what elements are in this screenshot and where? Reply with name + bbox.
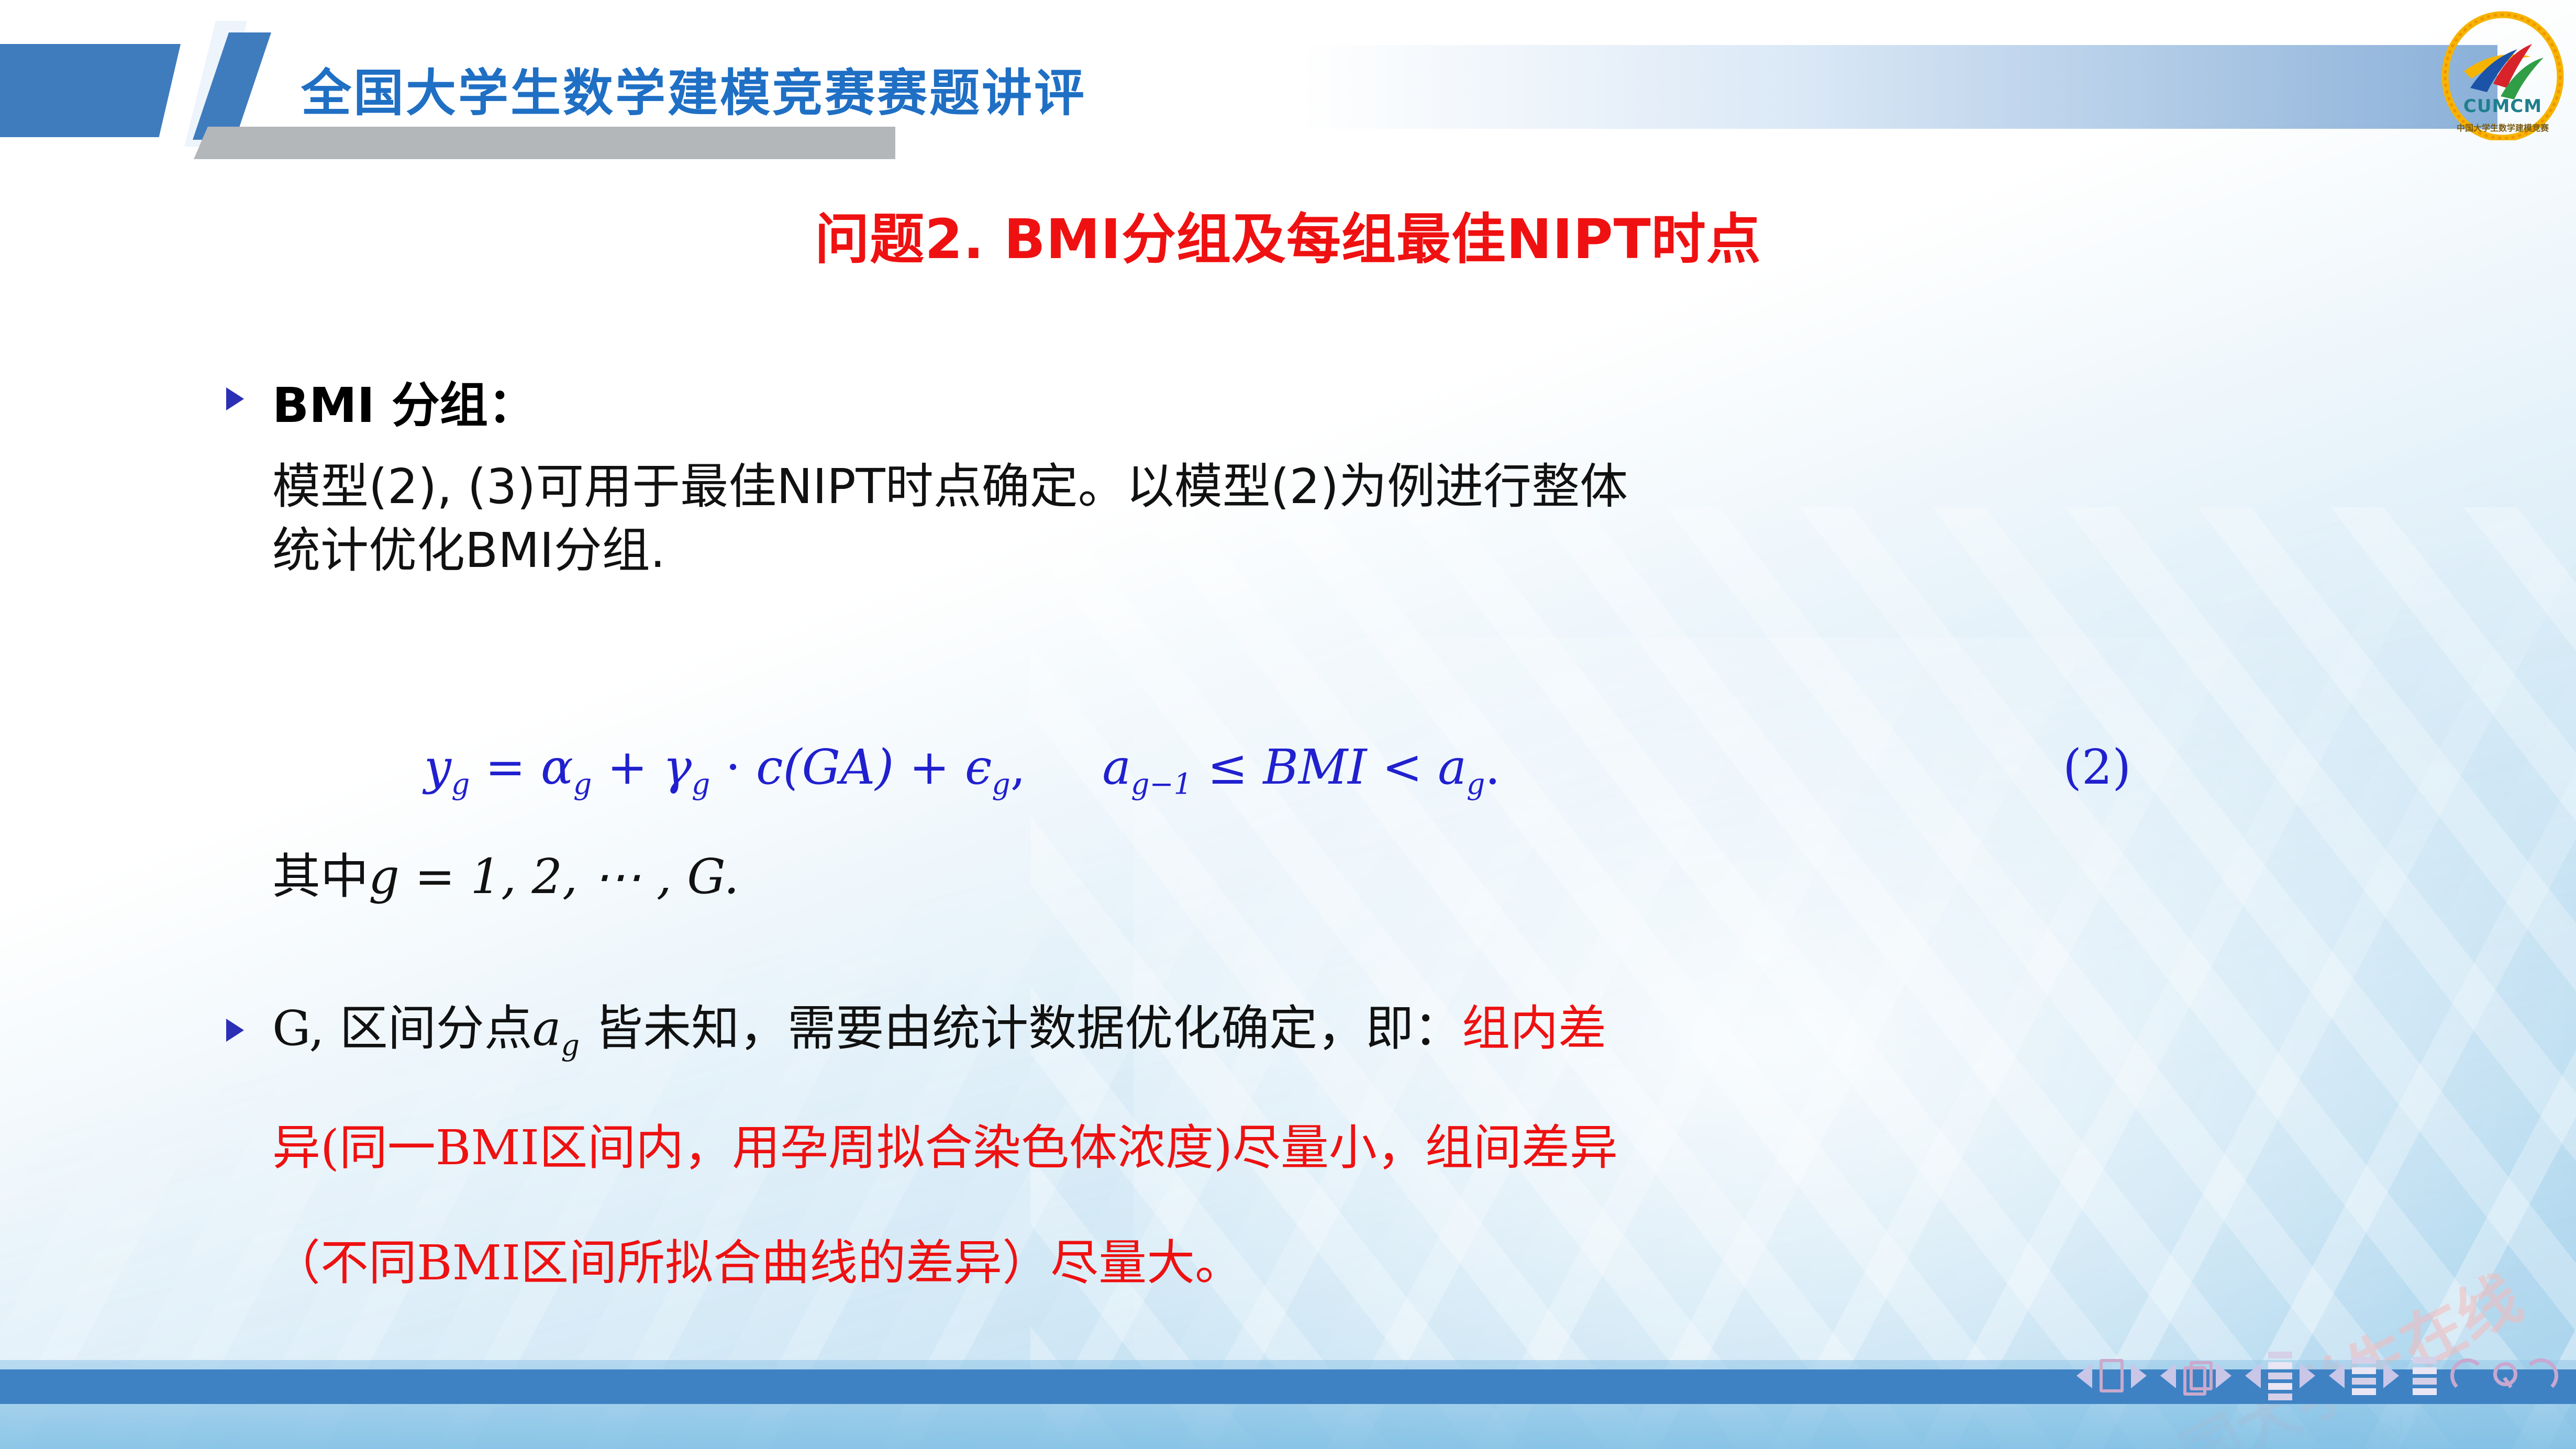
where-body: g = 1, 2, ⋯ , G. [369, 849, 739, 905]
formula-bound-lower: ag−1 [1102, 739, 1192, 795]
bullet1-heading: BMI 分组： [272, 366, 536, 436]
section-icon[interactable] [2352, 1357, 2376, 1395]
nav-group-subsection[interactable] [2245, 1352, 2315, 1400]
prev-frame-icon[interactable] [2077, 1363, 2092, 1388]
header-title: 全国大学生数学建模竞赛赛题讲评 [301, 52, 1086, 125]
formula-period: . [1485, 739, 1500, 795]
bullet2-line1-prefix: G, 区间分点 [272, 1000, 532, 1056]
svg-text:中国大学生数学建模竞赛: 中国大学生数学建模竞赛 [2457, 123, 2549, 133]
nav-group-document[interactable] [2413, 1357, 2437, 1395]
nav-group-history[interactable] [2450, 1358, 2558, 1393]
bullet2-var-a: ag [532, 1000, 580, 1056]
formula-equation-2: yg = αg + γg · c(GA) + ϵg, ag−1 ≤ BMI < … [424, 739, 1501, 801]
nav-group-frame[interactable] [2077, 1359, 2147, 1392]
subsection-icon[interactable] [2268, 1352, 2292, 1400]
bullet2-line1-red: 组内差 [1462, 1000, 1606, 1056]
formula-comma: , [1011, 739, 1026, 795]
header-gradient-bar [1298, 45, 2497, 129]
next-subsection-icon[interactable] [2300, 1363, 2315, 1388]
prev-section-icon[interactable] [2329, 1363, 2345, 1388]
bullet2-line2: 异(同一BMI区间内，用孕周拟合染色体浓度)尽量小，组间差异 [272, 1109, 1618, 1178]
formula-number: (2) [2063, 739, 2131, 795]
formula-c-ga: c(GA) [756, 739, 894, 795]
forward-icon[interactable] [2524, 1358, 2558, 1393]
frame-icon[interactable] [2100, 1359, 2124, 1392]
slides-icon[interactable] [2183, 1361, 2208, 1390]
formula-leq: ≤ [1207, 739, 1248, 795]
prev-subsection-icon[interactable] [2245, 1363, 2261, 1388]
cumcm-logo-icon: CUMCM 中国大学生数学建模竞赛 [2439, 9, 2567, 140]
formula-bmi: BMI [1263, 739, 1367, 795]
page-title: 问题2. BMI分组及每组最佳NIPT时点 [0, 195, 2576, 274]
formula-dot: · [726, 739, 741, 795]
nav-group-section[interactable] [2329, 1357, 2399, 1395]
prev-slide-icon[interactable] [2160, 1363, 2176, 1388]
formula-epsilon: ϵg [965, 739, 1011, 795]
next-frame-icon[interactable] [2131, 1363, 2147, 1388]
bullet2-line3: （不同BMI区间所拟合曲线的差异）尽量大。 [272, 1224, 1243, 1294]
where-prefix: 其中 [272, 849, 369, 905]
next-section-icon[interactable] [2383, 1363, 2399, 1388]
beamer-navigation-bar[interactable] [2077, 1351, 2558, 1401]
where-line: 其中g = 1, 2, ⋯ , G. [272, 838, 739, 907]
slide-root: 全国大学生数学建模竞赛赛题讲评 CUMCM 中国大学生数学建模竞赛 问题2. B… [0, 0, 2576, 1449]
formula-plus-1: + [607, 739, 648, 795]
bullet1-line1: 模型(2), (3)可用于最佳NIPT时点确定。以模型(2)为例进行整体 [272, 458, 1628, 516]
bullet-marker-1 [226, 387, 244, 410]
header-gray-bar [194, 127, 895, 159]
svg-text:CUMCM: CUMCM [2463, 96, 2542, 117]
bullet1-line2: 统计优化BMI分组. [272, 521, 665, 580]
formula-lhs: yg [424, 739, 470, 795]
slide-header: 全国大学生数学建模竞赛赛题讲评 CUMCM 中国大学生数学建模竞赛 [0, 0, 2576, 157]
header-blue-block [0, 44, 181, 137]
nav-group-slide[interactable] [2160, 1361, 2231, 1390]
formula-bound-upper: ag [1438, 739, 1485, 795]
back-icon[interactable] [2450, 1358, 2485, 1393]
formula-lt: < [1382, 739, 1423, 795]
bullet2-line1: G, 区间分点ag 皆未知，需要由统计数据优化确定，即：组内差 [272, 989, 1606, 1062]
formula-plus-2: + [909, 739, 950, 795]
formula-alpha: αg [541, 739, 592, 795]
bullet2-line1-mid: 皆未知，需要由统计数据优化确定，即： [580, 1000, 1462, 1056]
document-icon[interactable] [2413, 1357, 2437, 1395]
next-slide-icon[interactable] [2216, 1363, 2231, 1388]
formula-gamma: γg [663, 739, 710, 795]
formula-equals: = [485, 739, 526, 795]
bullet-marker-2 [226, 1019, 244, 1042]
search-icon[interactable] [2492, 1362, 2516, 1389]
